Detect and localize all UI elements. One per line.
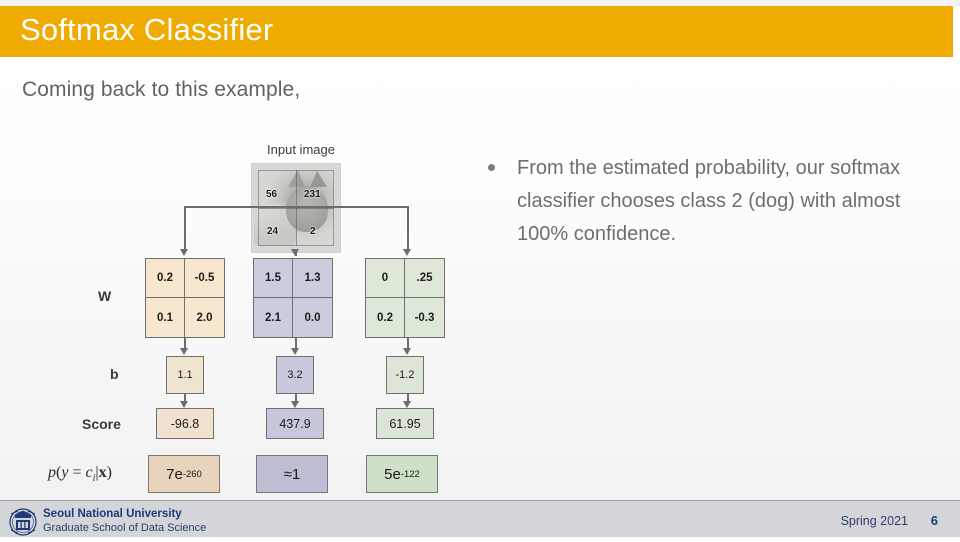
page-number: 6	[931, 513, 938, 528]
title-bar: Softmax Classifier	[0, 6, 953, 57]
pixel-value: 56	[266, 189, 277, 200]
weight-cell: 0.2	[146, 259, 185, 298]
weight-cell: -0.5	[185, 259, 224, 298]
bias-box-class-3: -1.2	[386, 356, 424, 394]
pixel-value: 24	[267, 226, 278, 237]
arrow-to-score-center	[291, 401, 299, 408]
weight-cell: 2.1	[254, 298, 293, 337]
weight-cell: 1.3	[293, 259, 332, 298]
formula-p: p	[48, 464, 56, 481]
weight-cell: 2.0	[185, 298, 224, 337]
arrow-to-bias-left	[180, 348, 188, 355]
footer: Seoul National University Graduate Schoo…	[0, 501, 960, 542]
input-image-thumbnail: 56 231 24 2	[252, 164, 340, 252]
row-label-score: Score	[82, 416, 121, 432]
formula-equals: =	[68, 464, 85, 481]
semester-label: Spring 2021	[841, 514, 908, 528]
pixel-value: 2	[310, 226, 316, 237]
slide-subtitle: Coming back to this example,	[22, 78, 300, 102]
branch-horizontal-wire	[184, 206, 408, 208]
probability-formula: p(y = ci|x)	[48, 464, 112, 484]
score-box-class-1: -96.8	[156, 408, 214, 439]
bullet-dot-icon	[488, 164, 495, 171]
probability-exponent: -122	[401, 469, 420, 480]
weight-cell: .25	[405, 259, 444, 298]
probability-mantissa: ≈1	[284, 466, 301, 483]
school-name: Graduate School of Data Science	[43, 522, 206, 534]
list-item: From the estimated probability, our soft…	[488, 152, 918, 251]
probability-box-class-1: 7e-260	[148, 455, 220, 493]
slide: Softmax Classifier Coming back to this e…	[0, 0, 960, 542]
softmax-pipeline-diagram: Input image 56 231 24 2	[40, 140, 460, 500]
row-label-bias: b	[110, 366, 119, 382]
pixel-value: 231	[304, 189, 321, 200]
weight-cell: 0.0	[293, 298, 332, 337]
weight-cell: -0.3	[405, 298, 444, 337]
branch-left-vertical-wire	[184, 206, 186, 249]
formula-x: x	[99, 464, 107, 481]
weight-matrix-class-1: 0.2 -0.5 0.1 2.0	[145, 258, 225, 338]
arrow-to-weights-center	[291, 249, 299, 256]
arrow-to-bias-right	[403, 348, 411, 355]
row-label-weights: W	[98, 288, 111, 304]
formula-c: c	[85, 464, 92, 481]
arrow-to-bias-center	[291, 348, 299, 355]
score-box-class-2: 437.9	[266, 408, 324, 439]
arrow-to-score-right	[403, 401, 411, 408]
university-crest-icon	[8, 507, 38, 537]
formula-close-paren: )	[107, 464, 112, 481]
pixel-grid-horizontal-line	[258, 208, 334, 209]
weight-matrix-class-3: 0 .25 0.2 -0.3	[365, 258, 445, 338]
probability-mantissa: 7e	[166, 466, 183, 483]
arrow-to-weights-left	[180, 249, 188, 256]
bullet-text: From the estimated probability, our soft…	[517, 152, 918, 251]
branch-right-vertical-wire	[407, 206, 409, 249]
weight-cell: 0.2	[366, 298, 405, 337]
probability-mantissa: 5e	[384, 466, 401, 483]
weight-cell: 0	[366, 259, 405, 298]
page-title: Softmax Classifier	[20, 12, 273, 48]
university-name: Seoul National University	[43, 508, 182, 520]
weight-matrix-class-2: 1.5 1.3 2.1 0.0	[253, 258, 333, 338]
weight-cell: 1.5	[254, 259, 293, 298]
bias-box-class-2: 3.2	[276, 356, 314, 394]
arrow-to-score-left	[180, 401, 188, 408]
footer-bottom-strip	[0, 537, 960, 542]
probability-box-class-2: ≈1	[256, 455, 328, 493]
input-image-caption: Input image	[246, 142, 356, 157]
arrow-to-weights-right	[403, 249, 411, 256]
title-bar-right-gap	[953, 6, 960, 57]
bullet-list: From the estimated probability, our soft…	[488, 152, 918, 251]
probability-exponent: -260	[183, 469, 202, 480]
probability-box-class-3: 5e-122	[366, 455, 438, 493]
bias-box-class-1: 1.1	[166, 356, 204, 394]
weight-cell: 0.1	[146, 298, 185, 337]
score-box-class-3: 61.95	[376, 408, 434, 439]
